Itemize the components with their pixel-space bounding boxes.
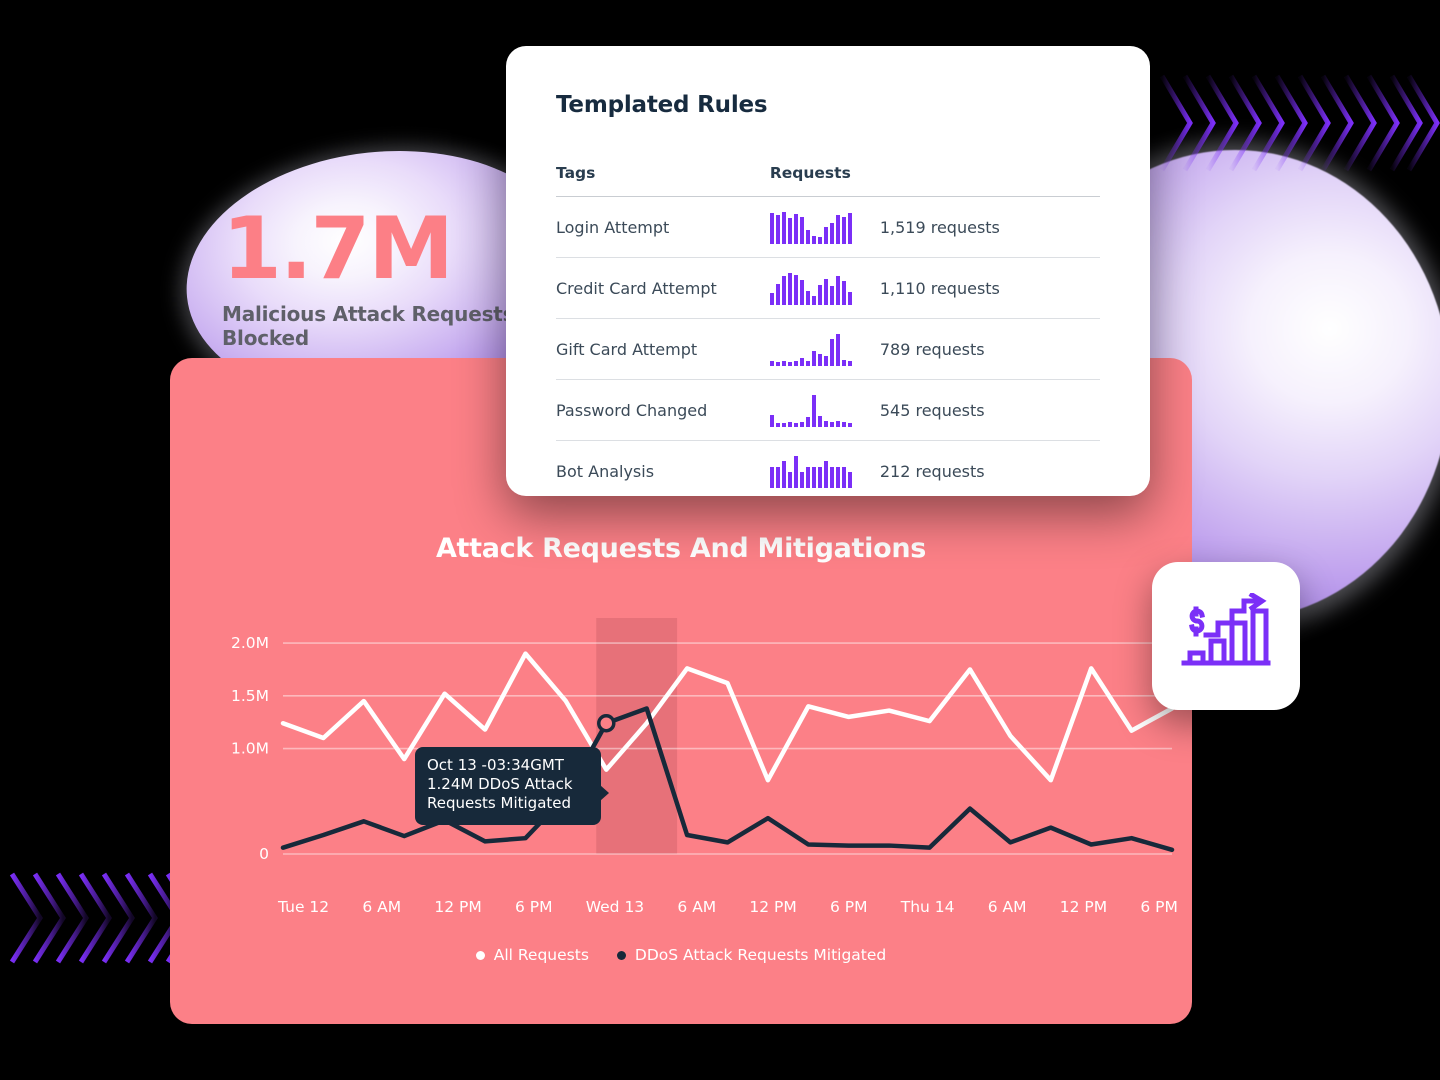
sparkline-bar [770, 213, 774, 244]
sparkline-bar [776, 362, 780, 366]
table-row[interactable]: Credit Card Attempt1,110 requests [556, 258, 1100, 319]
tooltip-pointer [600, 785, 609, 801]
rule-requests-cell: 1,519 requests [770, 197, 1100, 258]
sparkline-bar [818, 237, 822, 244]
sparkline-bar [812, 236, 816, 244]
sparkline-bar [788, 273, 792, 305]
x-tick-7: 6 PM [830, 898, 868, 916]
chart-tooltip: Oct 13 -03:34GMT 1.24M DDoS Attack Reque… [415, 747, 601, 825]
sparkline-bar [800, 280, 804, 305]
sparkline-bar [842, 467, 846, 488]
x-tick-11: 6 PM [1140, 898, 1178, 916]
sparkline-bar [794, 423, 798, 427]
table-row[interactable]: Bot Analysis212 requests [556, 441, 1100, 502]
sparkline-bar [812, 296, 816, 305]
sparkline-bar [770, 293, 774, 305]
sparkline-bar [812, 351, 816, 366]
chevron-right-icon [8, 868, 183, 968]
sparkline-bar [794, 275, 798, 305]
rule-request-count: 1,519 requests [880, 218, 1000, 237]
rule-request-count: 789 requests [880, 340, 985, 359]
rule-tag-cell: Gift Card Attempt [556, 319, 770, 380]
x-tick-6: 12 PM [749, 898, 796, 916]
x-tick-5: 6 AM [677, 898, 716, 916]
sparkline-bar [848, 423, 852, 427]
templated-rules-table: Tags Requests Login Attempt1,519 request… [556, 164, 1100, 501]
sparkline-bar [830, 286, 834, 305]
sparkline-bars [770, 454, 852, 488]
y-tick-label-3: 2.0M [231, 634, 269, 652]
y-tick-label-2: 1.5M [231, 687, 269, 705]
sparkline-bar [806, 467, 810, 488]
x-tick-1: 6 AM [362, 898, 401, 916]
sparkline-bar [806, 361, 810, 366]
chart-x-axis-labels: Tue 126 AM12 PM6 PMWed 136 AM12 PM6 PMTh… [278, 898, 1178, 916]
column-header-tags: Tags [556, 164, 770, 197]
legend-dot-ddos-mitigated [617, 951, 626, 960]
sparkline-bars [770, 271, 852, 305]
sparkline-bar [836, 334, 840, 366]
sparkline-bar [824, 227, 828, 244]
sparkline-bar [782, 212, 786, 244]
legend-label-all-requests: All Requests [494, 946, 589, 964]
sparkline-bar [836, 276, 840, 305]
sparkline-bar [806, 291, 810, 305]
templated-rules-card: Templated Rules Tags Requests Login Atte… [506, 46, 1150, 496]
sparkline-bar [824, 461, 828, 488]
sparkline-bar [800, 422, 804, 427]
sparkline-bar [800, 472, 804, 488]
legend-label-ddos-mitigated: DDoS Attack Requests Mitigated [635, 946, 886, 964]
sparkline-bar [848, 472, 852, 488]
sparkline-bar [842, 217, 846, 244]
sparkline-bar [782, 423, 786, 427]
rule-tag-cell: Login Attempt [556, 197, 770, 258]
sparkline-bar [782, 276, 786, 305]
sparkline-bar [770, 361, 774, 366]
sparkline-bar [776, 423, 780, 427]
sparkline-bar [794, 361, 798, 366]
sparkline-bar [842, 360, 846, 366]
sparkline-bar [836, 215, 840, 244]
table-row[interactable]: Login Attempt1,519 requests [556, 197, 1100, 258]
line-chart-svg: 01.0M1.5M2.0M [170, 614, 1192, 884]
sparkline-bar [782, 361, 786, 366]
sparkline-bar [776, 215, 780, 244]
table-row[interactable]: Password Changed545 requests [556, 380, 1100, 441]
rule-request-count: 1,110 requests [880, 279, 1000, 298]
sparkline-bar [830, 467, 834, 488]
sparkline-bars [770, 332, 852, 366]
rule-tag-cell: Credit Card Attempt [556, 258, 770, 319]
sparkline-bar [848, 292, 852, 305]
rule-request-count: 212 requests [880, 462, 985, 481]
sparkline-bars [770, 393, 852, 427]
rule-tag-cell: Bot Analysis [556, 441, 770, 502]
rule-requests-cell: 212 requests [770, 441, 1100, 502]
rule-requests-cell: 789 requests [770, 319, 1100, 380]
sparkline-bar [788, 472, 792, 488]
tooltip-timestamp: Oct 13 -03:34GMT [427, 756, 589, 775]
chevron-right-icon [1160, 68, 1440, 178]
rule-request-count: 545 requests [880, 401, 985, 420]
sparkline-bar [812, 395, 816, 427]
table-row[interactable]: Gift Card Attempt789 requests [556, 319, 1100, 380]
chevron-decoration-bottom-left [8, 868, 183, 968]
sparkline-bar [800, 217, 804, 244]
column-header-requests: Requests [770, 164, 1100, 197]
chart-legend: All Requests DDoS Attack Requests Mitiga… [170, 946, 1192, 964]
sparkline-bar [788, 362, 792, 366]
sparkline-bar [794, 456, 798, 488]
sparkline-bar [848, 213, 852, 244]
x-tick-10: 12 PM [1060, 898, 1107, 916]
x-tick-8: Thu 14 [901, 898, 955, 916]
sparkline-bar [788, 218, 792, 244]
sparkline-bar [842, 422, 846, 427]
sparkline-bar [812, 467, 816, 488]
rule-requests-cell: 545 requests [770, 380, 1100, 441]
sparkline-bar [818, 285, 822, 305]
x-tick-9: 6 AM [988, 898, 1027, 916]
x-tick-2: 12 PM [434, 898, 481, 916]
bar-chart-growth-dollar-icon [1180, 593, 1272, 679]
rules-card-title: Templated Rules [556, 92, 1100, 118]
sparkline-bar [770, 467, 774, 488]
tooltip-line-2: 1.24M DDoS Attack [427, 775, 589, 794]
sparkline-bar [836, 467, 840, 488]
chart-plot-area: 01.0M1.5M2.0M [170, 614, 1192, 884]
sparkline-bar [818, 354, 822, 366]
sparkline-bar [824, 421, 828, 427]
table-header-row: Tags Requests [556, 164, 1100, 197]
x-tick-4: Wed 13 [586, 898, 644, 916]
sparkline-bar [782, 461, 786, 488]
rule-tag-cell: Password Changed [556, 380, 770, 441]
sparkline-bar [830, 223, 834, 244]
legend-item-ddos-mitigated[interactable]: DDoS Attack Requests Mitigated [617, 946, 886, 964]
sparkline-bar [824, 279, 828, 305]
legend-dot-all-requests [476, 951, 485, 960]
x-tick-3: 6 PM [515, 898, 553, 916]
sparkline-bar [836, 421, 840, 427]
sparkline-bar [806, 417, 810, 427]
growth-metric-icon-card[interactable] [1152, 562, 1300, 710]
sparkline-bar [830, 422, 834, 427]
hero-illustration: 1.7M Malicious Attack Requests Blocked A… [0, 0, 1440, 1080]
sparkline-bar [818, 467, 822, 488]
chevron-decoration-top-right [1160, 68, 1440, 178]
sparkline-bar [776, 467, 780, 488]
sparkline-bar [824, 356, 828, 366]
tooltip-line-3: Requests Mitigated [427, 794, 589, 813]
sparkline-bar [794, 214, 798, 244]
sparkline-bar [770, 415, 774, 427]
sparkline-bar [842, 281, 846, 305]
sparkline-bar [848, 361, 852, 366]
rule-requests-cell: 1,110 requests [770, 258, 1100, 319]
sparkline-bar [818, 416, 822, 427]
sparkline-bars [770, 210, 852, 244]
sparkline-bar [788, 422, 792, 427]
chart-data-point-marker[interactable] [599, 716, 614, 731]
y-tick-label-1: 1.0M [231, 740, 269, 758]
y-tick-label-0: 0 [259, 845, 269, 863]
chart-title: Attack Requests And Mitigations [170, 533, 1192, 564]
sparkline-bar [776, 284, 780, 305]
sparkline-bar [806, 230, 810, 244]
sparkline-bar [800, 358, 804, 366]
x-tick-0: Tue 12 [278, 898, 329, 916]
sparkline-bar [830, 339, 834, 366]
legend-item-all-requests[interactable]: All Requests [476, 946, 589, 964]
